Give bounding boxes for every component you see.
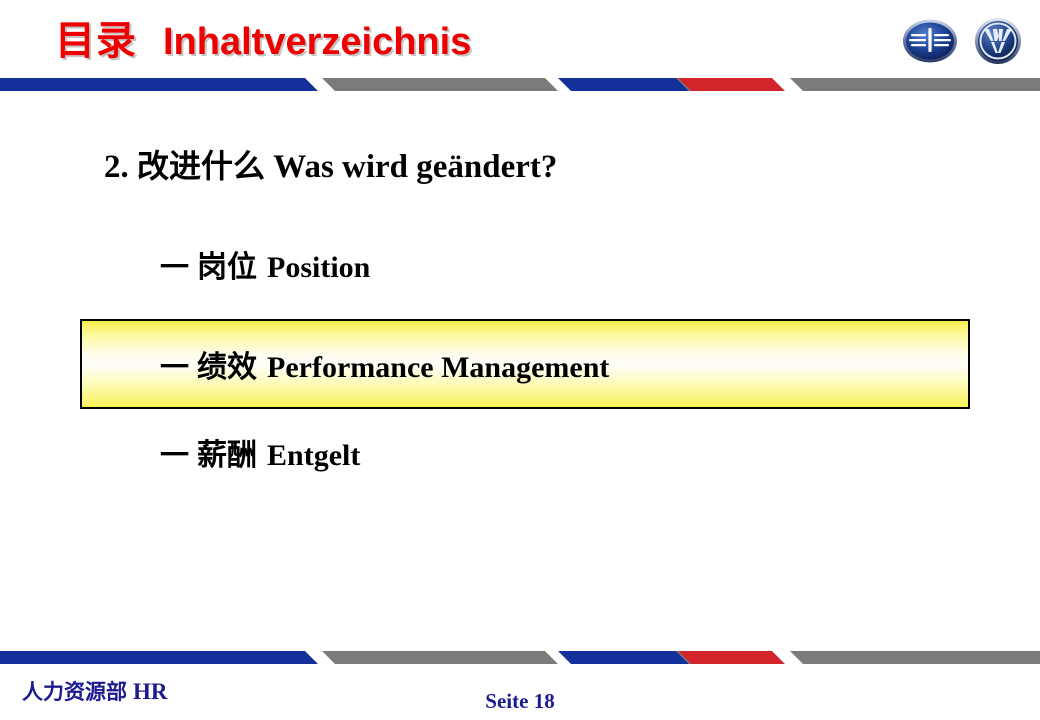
bullet-item-position: 一岗位Position: [160, 248, 370, 287]
bullet-chinese: 薪酬: [197, 438, 257, 473]
bullet-item-performance: 一绩效Performance Management: [160, 348, 609, 387]
bullet-dash: 一: [160, 350, 189, 384]
content-heading: 2. 改进什么 Was wird geändert?: [104, 146, 557, 187]
slide-footer: 人力资源部HR Seite 18: [0, 664, 1040, 720]
page-title-german: Inhaltverzeichnis: [163, 21, 471, 63]
logo-group: [902, 17, 1022, 65]
heading-number: 2.: [104, 149, 129, 185]
header-divider-stripe: [0, 78, 1040, 91]
slide-content: 2. 改进什么 Was wird geändert? 一岗位Position 一…: [0, 96, 1040, 641]
page-title: 目录Inhaltverzeichnis: [55, 18, 471, 65]
page-number: Seite 18: [0, 688, 1040, 714]
heading-german: Was wird geändert?: [273, 149, 557, 185]
bullet-german: Position: [267, 251, 370, 284]
bullet-dash: 一: [160, 438, 189, 472]
page-title-chinese: 目录: [55, 18, 137, 64]
bullet-german: Entgelt: [267, 439, 360, 472]
bullet-item-entgelt: 一薪酬Entgelt: [160, 436, 360, 475]
heading-chinese: 改进什么: [137, 147, 265, 185]
bullet-chinese: 绩效: [197, 350, 257, 385]
footer-divider-stripe: [0, 651, 1040, 664]
bullet-german: Performance Management: [267, 351, 609, 384]
bullet-dash: 一: [160, 250, 189, 284]
slide: 目录Inhaltverzeichnis: [0, 0, 1040, 720]
bullet-chinese: 岗位: [197, 250, 257, 285]
vw-logo-icon: [974, 17, 1022, 65]
faw-logo-icon: [902, 18, 958, 64]
slide-header: 目录Inhaltverzeichnis: [0, 0, 1040, 80]
